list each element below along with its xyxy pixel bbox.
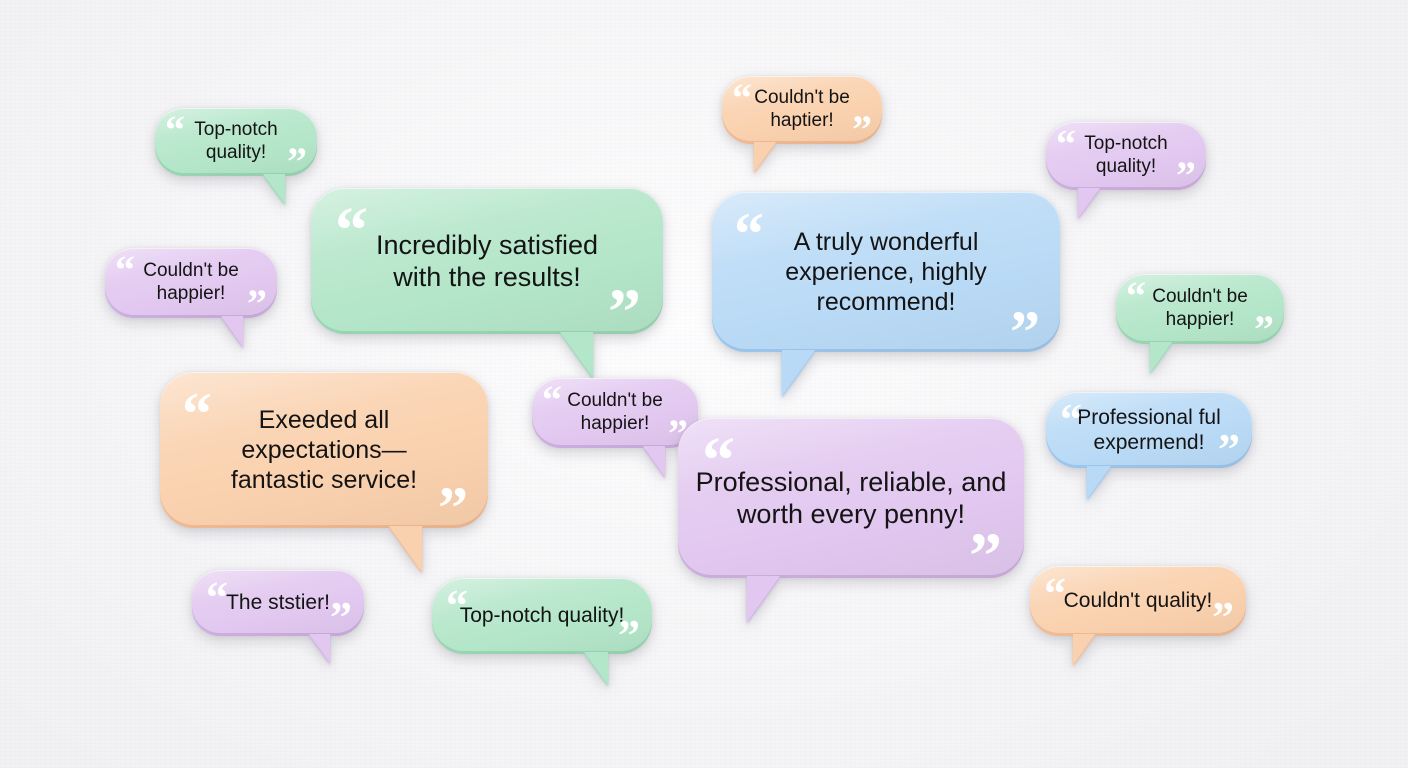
- speech-bubble: “”Couldn't quality!: [1030, 566, 1246, 636]
- bubble-tail: [1073, 634, 1095, 665]
- quote-close-icon: ”: [330, 596, 352, 640]
- quote-open-icon: “: [702, 428, 735, 494]
- bubble-tail: [747, 576, 780, 622]
- bubble-tail: [1150, 342, 1172, 373]
- quote-open-icon: “: [182, 384, 212, 444]
- testimonial-text: Couldn't be happier!: [129, 260, 253, 306]
- bubble-tail: [754, 142, 776, 172]
- testimonial-text: Couldn't be happier!: [553, 390, 677, 436]
- speech-bubble: “”Couldn't be happier!: [105, 248, 277, 318]
- speech-bubble: “”Couldn't be haptier!: [722, 76, 882, 144]
- testimonial-text: Couldn't be happier!: [1138, 286, 1262, 332]
- speech-bubble: “”Top-notch quality!: [155, 108, 317, 176]
- quote-open-icon: “: [115, 250, 135, 290]
- speech-bubble: “”Top-notch quality!: [1046, 122, 1206, 190]
- speech-bubble: “”Professional, reliable, and worth ever…: [678, 418, 1024, 578]
- testimonial-text: Professional ful expermend!: [1063, 405, 1235, 455]
- testimonial-text: A truly wonderful experience, highly rec…: [771, 227, 1001, 317]
- testimonial-text: Top-notch quality!: [180, 119, 291, 165]
- quote-close-icon: ”: [1218, 428, 1240, 472]
- bubble-tail: [1078, 188, 1100, 218]
- quote-open-icon: “: [1126, 276, 1146, 316]
- bubble-tail: [221, 316, 243, 347]
- quote-close-icon: ”: [1254, 310, 1274, 350]
- quote-open-icon: “: [732, 78, 752, 118]
- quote-close-icon: ”: [287, 142, 307, 182]
- bubble-tail: [643, 446, 665, 477]
- testimonial-text: Exeeded all expectations— fantastic serv…: [217, 405, 431, 495]
- quote-open-icon: “: [1044, 572, 1066, 616]
- speech-bubble: “”Top-notch quality!: [432, 578, 652, 654]
- bubble-tail: [309, 634, 330, 663]
- bubble-tail: [584, 652, 608, 685]
- testimonial-text: The ststier!: [212, 590, 344, 615]
- speech-bubble: “”Incredibly satisfied with the results!: [311, 188, 663, 334]
- quote-close-icon: ”: [1176, 156, 1196, 196]
- quote-close-icon: ”: [969, 524, 1002, 590]
- quote-close-icon: ”: [608, 280, 641, 346]
- quote-open-icon: “: [1060, 398, 1082, 442]
- quote-close-icon: ”: [1010, 302, 1040, 362]
- speech-bubble: “”Couldn't be happier!: [532, 378, 698, 448]
- quote-open-icon: “: [542, 380, 562, 420]
- quote-close-icon: ”: [1212, 596, 1234, 640]
- speech-bubble: “”A truly wonderful experience, highly r…: [712, 192, 1060, 352]
- quote-close-icon: ”: [247, 284, 267, 324]
- bubble-tail: [263, 174, 285, 204]
- quote-open-icon: “: [734, 204, 764, 264]
- quote-close-icon: ”: [618, 614, 640, 658]
- bubble-tail: [782, 350, 815, 396]
- testimonial-text: Couldn't quality!: [1050, 588, 1227, 613]
- quote-open-icon: “: [206, 576, 228, 620]
- bubble-tail: [560, 332, 593, 378]
- testimonial-text: Couldn't be haptier!: [740, 87, 864, 133]
- testimonial-text: Top-notch quality!: [446, 603, 639, 628]
- speech-bubble: “”The ststier!: [192, 570, 364, 636]
- quote-open-icon: “: [165, 110, 185, 150]
- bubble-collage-canvas: “”Top-notch quality!“”Couldn't be happie…: [0, 0, 1408, 768]
- speech-bubble: “”Professional ful expermend!: [1046, 392, 1252, 468]
- quote-open-icon: “: [1056, 124, 1076, 164]
- bubble-tail: [1087, 466, 1111, 499]
- quote-open-icon: “: [446, 584, 468, 628]
- testimonial-text: Top-notch quality!: [1070, 133, 1181, 179]
- speech-bubble: “”Exeeded all expectations— fantastic se…: [160, 372, 488, 528]
- testimonial-text: Incredibly satisfied with the results!: [362, 229, 612, 294]
- quote-open-icon: “: [335, 198, 368, 264]
- bubble-tail: [389, 526, 422, 572]
- quote-close-icon: ”: [438, 478, 468, 538]
- speech-bubble: “”Couldn't be happier!: [1116, 274, 1284, 344]
- quote-close-icon: ”: [852, 110, 872, 150]
